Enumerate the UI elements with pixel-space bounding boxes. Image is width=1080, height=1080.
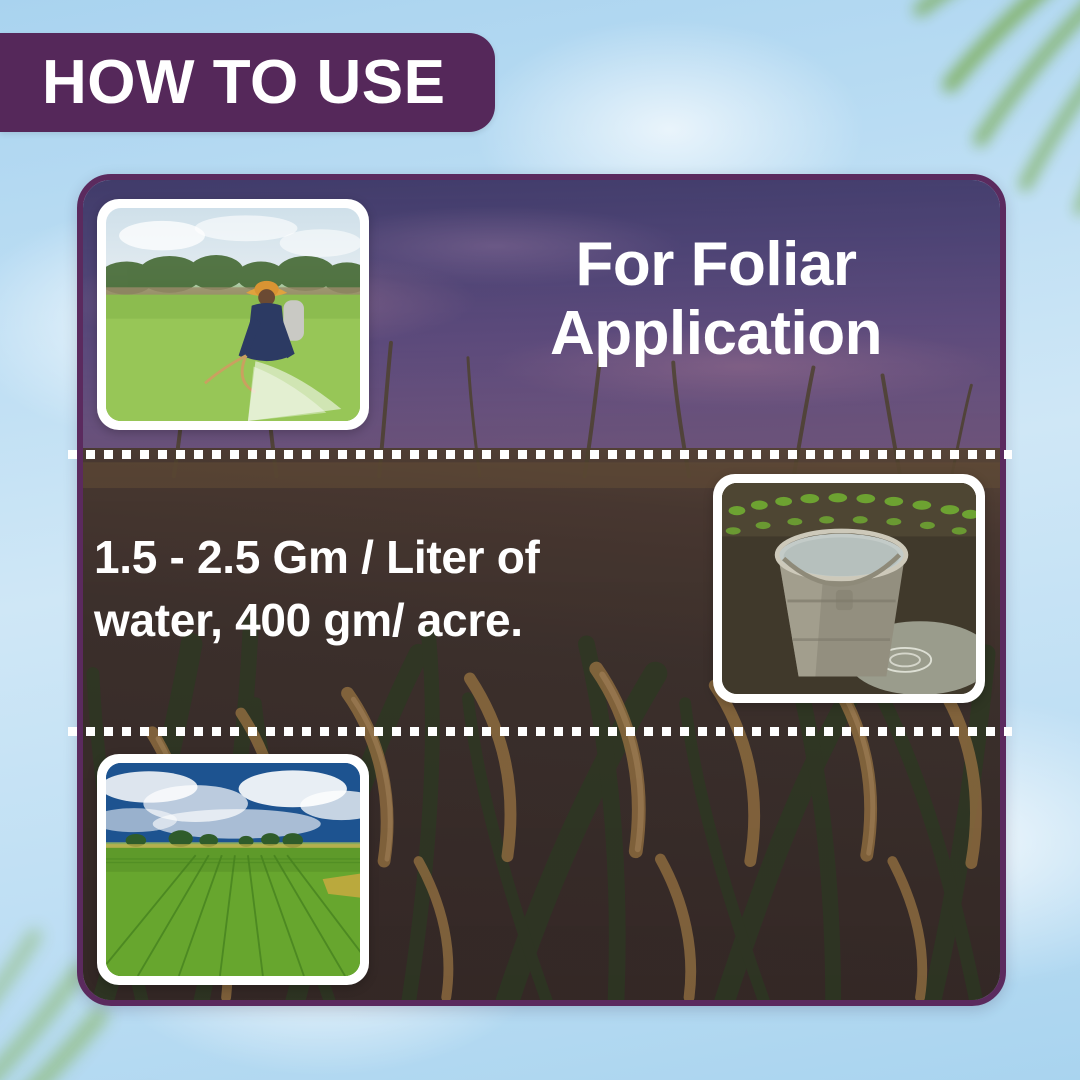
divider-bottom — [68, 727, 1012, 736]
photo-farmer-spraying — [97, 199, 369, 430]
headline-line-1: For Foliar — [466, 230, 966, 299]
dosage-line-2: water, 400 gm/ acre. — [94, 589, 654, 652]
dosage-line-1: 1.5 - 2.5 Gm / Liter of — [94, 526, 654, 589]
poster-canvas: HOW TO USE — [0, 0, 1080, 1080]
headline-line-2: Application — [466, 299, 966, 368]
photo-green-field — [97, 754, 369, 985]
dosage-text: 1.5 - 2.5 Gm / Liter of water, 400 gm/ a… — [94, 526, 654, 653]
card-headline: For Foliar Application — [466, 230, 966, 369]
how-to-use-banner: HOW TO USE — [0, 33, 495, 132]
photo-bucket-of-water — [713, 474, 985, 703]
divider-top — [68, 450, 1012, 459]
page-title: HOW TO USE — [42, 52, 445, 114]
